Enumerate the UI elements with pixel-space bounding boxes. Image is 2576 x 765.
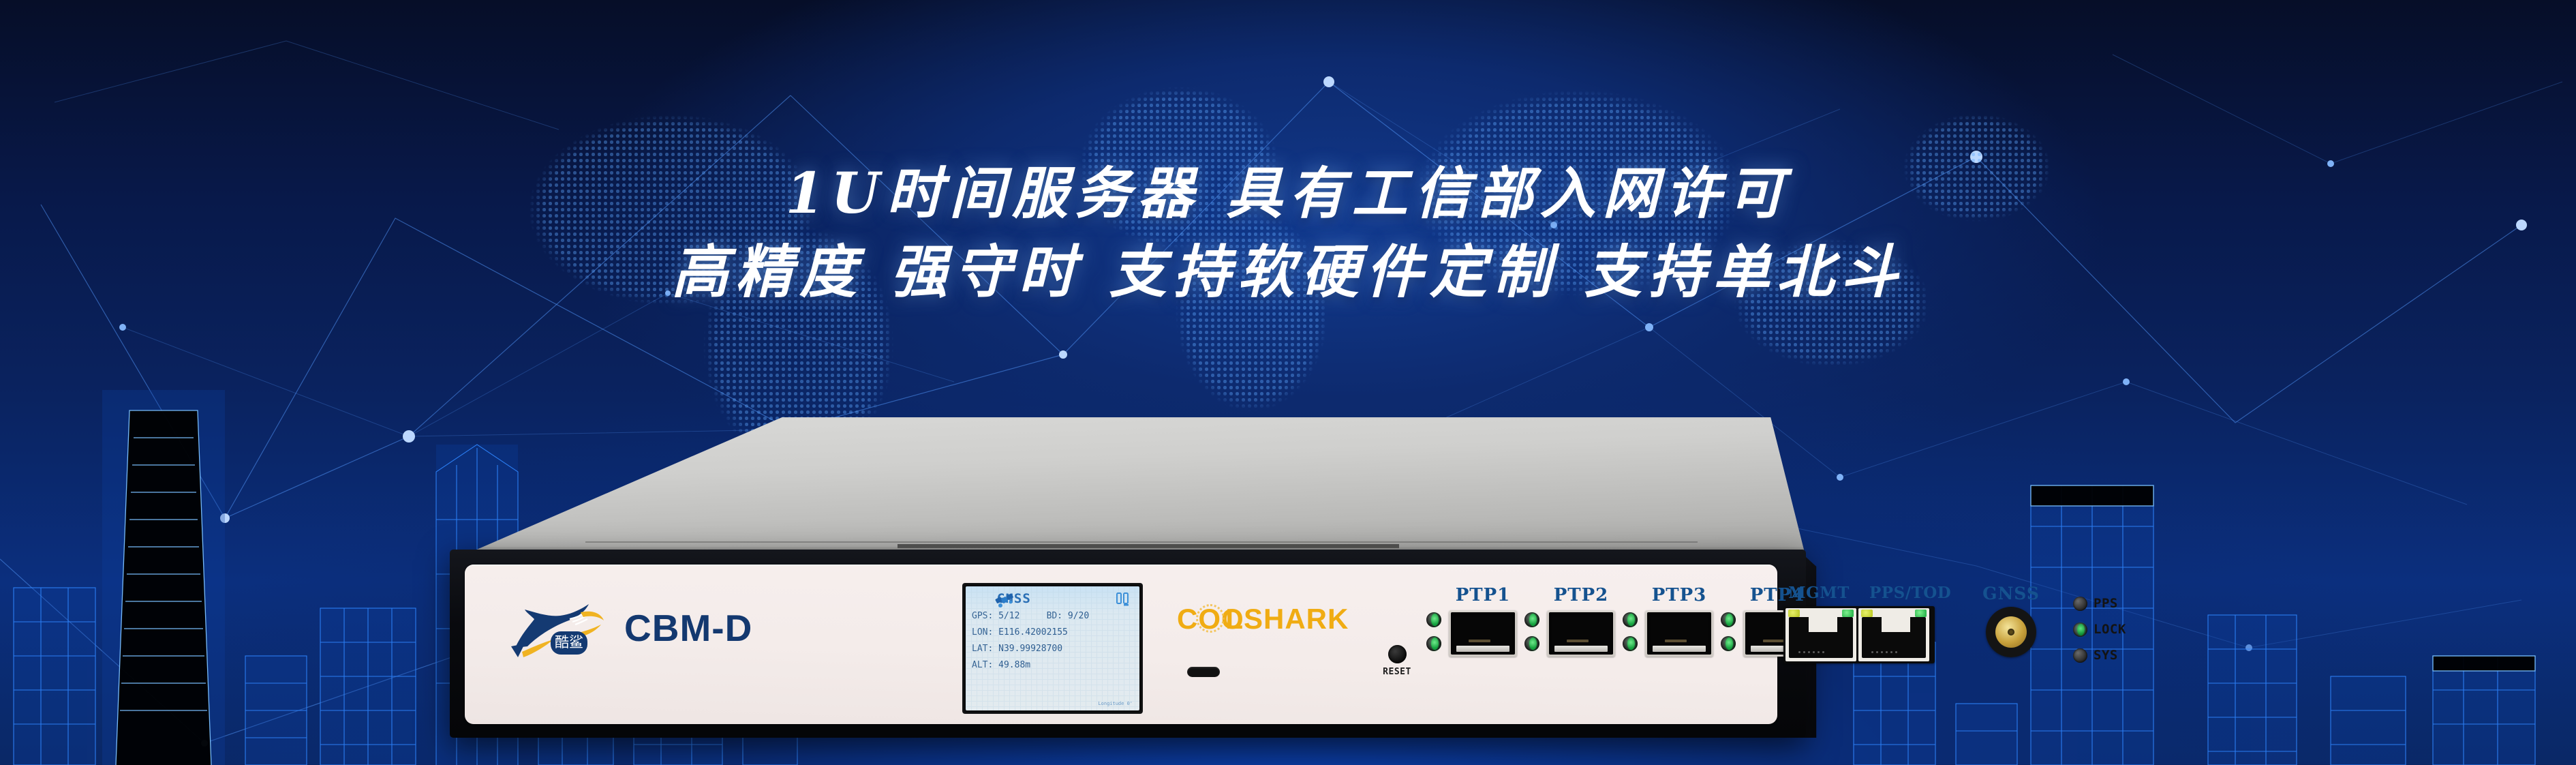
model-name: CBM-D: [624, 606, 752, 650]
lcd-alt-value: 49.88m: [998, 660, 1030, 670]
pps-tod-port[interactable]: [1858, 608, 1929, 661]
mgmt-label: MGMT: [1786, 584, 1852, 602]
lcd-row-alt: ALT: 49.88m: [966, 657, 1139, 674]
lcd-lat-value: N39.99928700: [998, 644, 1062, 654]
ptp-socket-3[interactable]: [1645, 610, 1713, 657]
satellite-icon: [994, 592, 1015, 610]
ptp-port-group: PTP1 PTP2: [1419, 585, 1811, 657]
lcd-lat-label: LAT:: [972, 644, 993, 654]
front-bezel: 酷鲨 CBM-D: [450, 550, 1806, 738]
status-led-lock-icon: [2073, 622, 2087, 637]
lcd-footer: Longitude 0': [1098, 701, 1133, 706]
lcd-gps-label: GPS:: [972, 611, 993, 621]
rj45-port-block: MGMT PPS/TOD: [1783, 584, 1935, 663]
lcd-alt-label: ALT:: [972, 660, 993, 670]
ptp-port-1[interactable]: PTP1: [1449, 585, 1517, 657]
sma-connector-icon[interactable]: [1986, 607, 2036, 657]
ptp-label-3: PTP3: [1652, 585, 1707, 605]
ptp-led-act-0: [1426, 636, 1441, 651]
ptp-port-2[interactable]: PTP2: [1547, 585, 1615, 657]
headline-line-2: 高精度 强守时 支持软硬件定制 支持单北斗: [0, 236, 2576, 308]
svg-text:酷鲨: 酷鲨: [555, 634, 583, 650]
ptp-led-act-3: [1721, 636, 1736, 651]
gnss-label: GNSS: [1974, 584, 2048, 603]
ptp-led-link-2: [1623, 612, 1638, 627]
brand-block: 酷鲨 CBM-D: [504, 595, 752, 661]
shark-logo-icon: 酷鲨: [504, 595, 607, 661]
chassis-top-surface: [450, 417, 1806, 558]
wordmark-oo-ring-icon: OO: [1198, 603, 1225, 635]
dot-matrix-world-map: [382, 41, 2194, 464]
status-led-group: PPS LOCK SYS: [2073, 596, 2126, 663]
status-row-lock: LOCK: [2073, 622, 2126, 637]
banner-stage: 1U时间服务器 具有工信部入网许可 高精度 强守时 支持软硬件定制 支持单北斗: [0, 0, 2576, 765]
ptp-led-pair-1: [1524, 612, 1539, 651]
pps-tod-led-left: [1861, 610, 1873, 617]
ptp-led-act-2: [1623, 636, 1638, 651]
ptp-socket-1[interactable]: [1449, 610, 1517, 657]
ptp-led-link-3: [1721, 612, 1736, 627]
status-led-sys-icon: [2073, 648, 2087, 663]
lcd-bd-value: 9/20: [1068, 611, 1089, 621]
signal-bars-icon: [1116, 591, 1133, 606]
status-label-lock: LOCK: [2094, 622, 2126, 637]
reset-button-icon[interactable]: [1388, 645, 1407, 663]
ptp-socket-2[interactable]: [1547, 610, 1615, 657]
lcd-row-gps: GPS: 5/12 BD: 9/20: [966, 608, 1139, 625]
time-server-device: 酷鲨 CBM-D: [450, 417, 1806, 738]
reset-label: RESET: [1370, 667, 1424, 677]
lcd-lon-value: E116.42002155: [998, 627, 1068, 637]
mgmt-port[interactable]: [1785, 608, 1856, 661]
reset-control[interactable]: RESET: [1370, 645, 1424, 677]
coolshark-wordmark: C OO LSHARK: [1177, 603, 1349, 635]
faceplate: 酷鲨 CBM-D: [465, 565, 1777, 724]
ptp-led-act-1: [1524, 636, 1539, 651]
headline-line-1: 1U时间服务器 具有工信部入网许可: [0, 158, 2576, 229]
ptp-led-link-0: [1426, 612, 1441, 627]
ptp-label-2: PTP2: [1554, 585, 1609, 605]
status-led-pps-icon: [2073, 597, 2087, 611]
ptp-led-link-1: [1524, 612, 1539, 627]
ptp-port-3[interactable]: PTP3: [1645, 585, 1713, 657]
lcd-row-lat: LAT: N39.99928700: [966, 641, 1139, 657]
status-label-pps: PPS: [2094, 596, 2118, 611]
status-label-sys: SYS: [2094, 648, 2118, 663]
pps-tod-label: PPS/TOD: [1869, 584, 1935, 602]
lcd-lon-label: LON:: [972, 627, 993, 637]
ptp-label-1: PTP1: [1456, 585, 1511, 605]
wordmark-pre: C: [1177, 603, 1198, 635]
lcd-gps-value: 5/12: [998, 611, 1019, 621]
ptp-led-pair-2: [1623, 612, 1638, 651]
mgmt-led-left: [1788, 610, 1800, 617]
lcd-display[interactable]: GNSS GPS: 5/12 BD:: [962, 583, 1143, 714]
pps-tod-led-right: [1915, 610, 1927, 617]
status-row-pps: PPS: [2073, 596, 2126, 611]
ptp-led-pair-3: [1721, 612, 1736, 651]
usb-console-slot[interactable]: [1187, 667, 1220, 677]
status-row-sys: SYS: [2073, 648, 2126, 663]
ptp-led-pair-0: [1426, 612, 1441, 651]
lcd-row-lon: LON: E116.42002155: [966, 625, 1139, 641]
headline: 1U时间服务器 具有工信部入网许可 高精度 强守时 支持软硬件定制 支持单北斗: [0, 158, 2576, 308]
wordmark-oo: OO: [1198, 603, 1244, 635]
gnss-connector-block[interactable]: GNSS: [1974, 584, 2048, 657]
mgmt-led-right: [1842, 610, 1854, 617]
lcd-bd-label: BD:: [1047, 611, 1062, 621]
